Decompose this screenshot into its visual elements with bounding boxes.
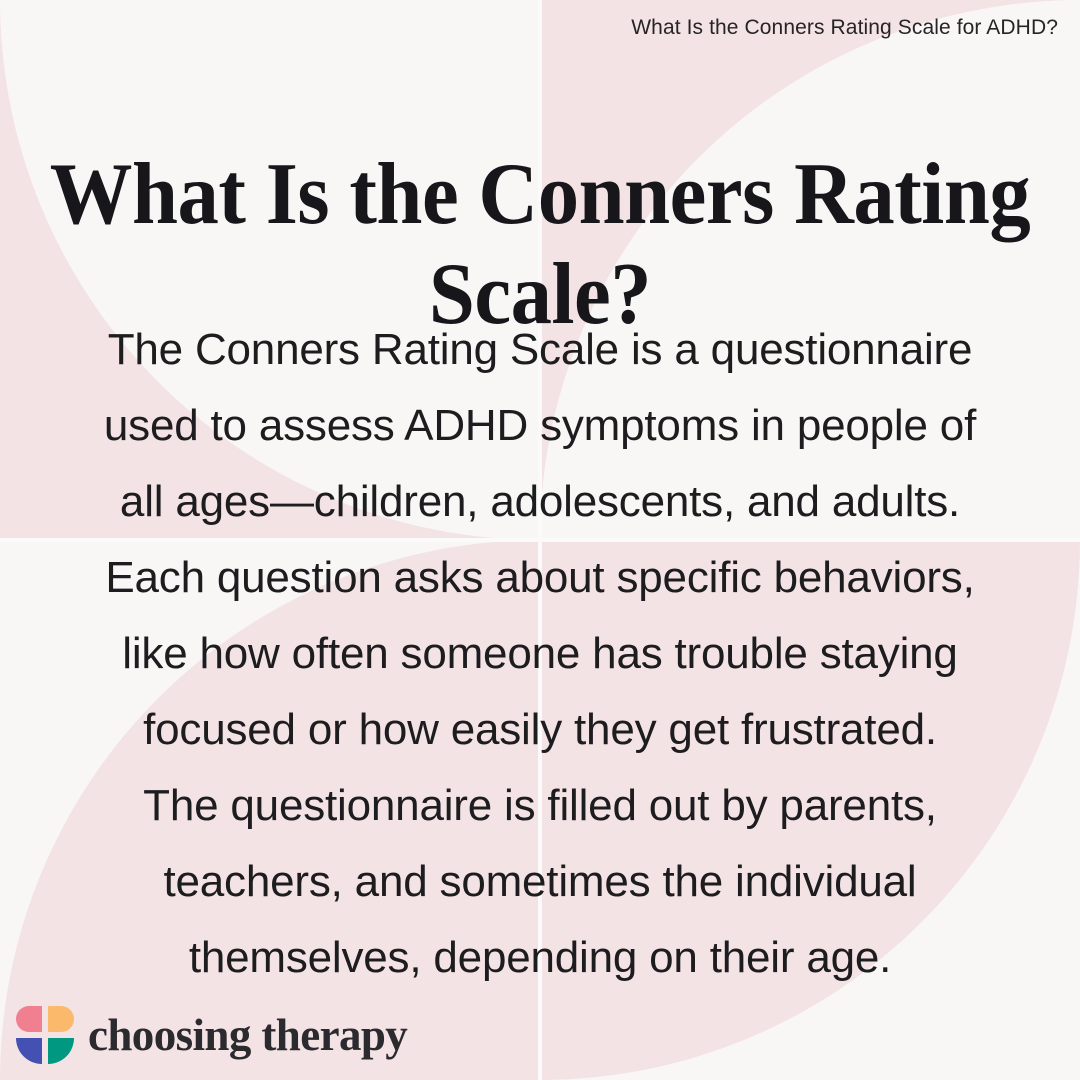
body-line: themselves, depending on their age. (60, 920, 1020, 996)
body-line: The Conners Rating Scale is a questionna… (60, 312, 1020, 388)
logo-quadrant-top-right (48, 1006, 74, 1032)
body-line: The questionnaire is filled out by paren… (60, 768, 1020, 844)
body-line: all ages—children, adolescents, and adul… (60, 464, 1020, 540)
body-line: teachers, and sometimes the individual (60, 844, 1020, 920)
logo-quadrant-bottom-left (16, 1038, 42, 1064)
body-line: Each question asks about specific behavi… (60, 540, 1020, 616)
card-content: What Is the Conners Rating Scale for ADH… (0, 0, 1080, 1080)
brand-wordmark: choosing therapy (88, 1013, 407, 1058)
body-line: focused or how easily they get frustrate… (60, 692, 1020, 768)
social-card: What Is the Conners Rating Scale for ADH… (0, 0, 1080, 1080)
brand-logo: choosing therapy (16, 1006, 407, 1064)
choosing-therapy-pinwheel-logo-icon (16, 1006, 74, 1064)
body-line: like how often someone has trouble stayi… (60, 616, 1020, 692)
body-copy: The Conners Rating Scale is a questionna… (60, 312, 1020, 996)
article-kicker: What Is the Conners Rating Scale for ADH… (631, 16, 1058, 40)
logo-quadrant-top-left (16, 1006, 42, 1032)
body-line: used to assess ADHD symptoms in people o… (60, 388, 1020, 464)
logo-quadrant-bottom-right (48, 1038, 74, 1064)
